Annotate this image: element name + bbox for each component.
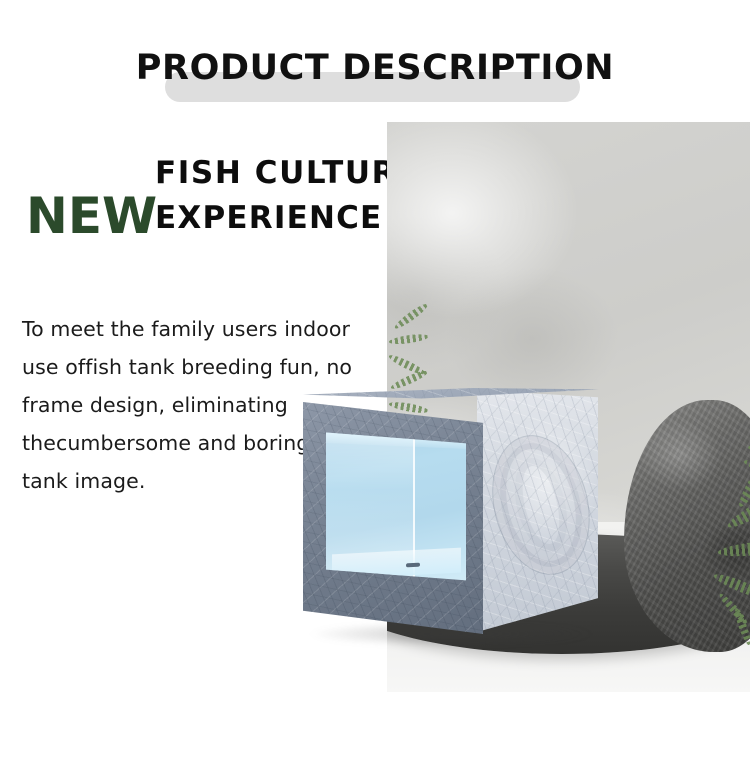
headline-line-2: EXPERIENCE bbox=[155, 203, 382, 234]
poster-canvas: PRODUCT DESCRIPTION NEW FISH CULTURE EXP… bbox=[0, 0, 750, 757]
fish-tank-side-panel bbox=[477, 390, 598, 632]
fish-tank-glass-panel bbox=[326, 431, 466, 585]
tank-outlet-fitting bbox=[406, 562, 420, 567]
headline-highlight-word: NEW bbox=[26, 191, 157, 241]
headline-line-1: FISH CULTURE bbox=[155, 158, 420, 189]
page-title: PRODUCT DESCRIPTION bbox=[0, 48, 750, 88]
fish-tank-product bbox=[303, 388, 599, 636]
